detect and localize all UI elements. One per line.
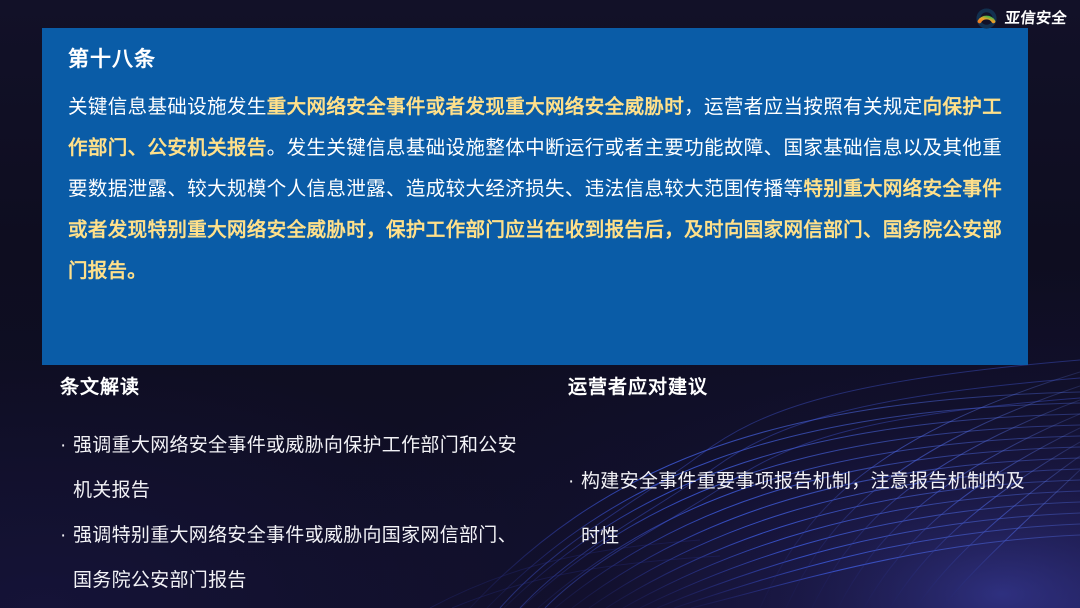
article-title: 第十八条 <box>68 49 1002 70</box>
bullet-list: · 构建安全事件重要事项报告机制，注意报告机制的及时性 <box>568 454 1038 564</box>
column-heading: 条文解读 <box>60 378 530 397</box>
bullet-dot-icon: · <box>60 423 73 468</box>
article-panel: 第十八条 关键信息基础设施发生重大网络安全事件或者发现重大网络安全威胁时，运营者… <box>42 28 1028 365</box>
bullet-dot-icon: · <box>60 513 73 558</box>
article-plain-segment: ，运营者应当按照有关规定 <box>684 96 923 118</box>
brand-name: 亚信安全 <box>1004 11 1068 26</box>
list-item-text: 强调重大网络安全事件或威胁向保护工作部门和公安机关报告 <box>73 423 530 513</box>
column-interpretation: 条文解读 · 强调重大网络安全事件或威胁向保护工作部门和公安机关报告 · 强调特… <box>60 378 530 603</box>
column-heading: 运营者应对建议 <box>568 378 1038 397</box>
article-highlight-segment: 重大网络安全事件或者发现重大网络安全威胁时 <box>267 96 684 118</box>
list-item: · 强调特别重大网络安全事件或威胁向国家网信部门、国务院公安部门报告 <box>60 513 530 603</box>
bullet-list: · 强调重大网络安全事件或威胁向保护工作部门和公安机关报告 · 强调特别重大网络… <box>60 423 530 603</box>
list-item: · 强调重大网络安全事件或威胁向保护工作部门和公安机关报告 <box>60 423 530 513</box>
bullet-dot-icon: · <box>568 454 581 509</box>
aisec-ring-logo-icon <box>975 7 998 30</box>
brand-logo: 亚信安全 <box>975 7 1067 30</box>
article-body: 关键信息基础设施发生重大网络安全事件或者发现重大网络安全威胁时，运营者应当按照有… <box>68 87 1002 292</box>
list-item: · 构建安全事件重要事项报告机制，注意报告机制的及时性 <box>568 454 1038 564</box>
list-item-text: 强调特别重大网络安全事件或威胁向国家网信部门、国务院公安部门报告 <box>73 513 530 603</box>
list-item-text: 构建安全事件重要事项报告机制，注意报告机制的及时性 <box>581 454 1038 564</box>
article-plain-segment: 关键信息基础设施发生 <box>68 96 267 118</box>
column-operator-advice: 运营者应对建议 · 构建安全事件重要事项报告机制，注意报告机制的及时性 <box>568 378 1038 564</box>
